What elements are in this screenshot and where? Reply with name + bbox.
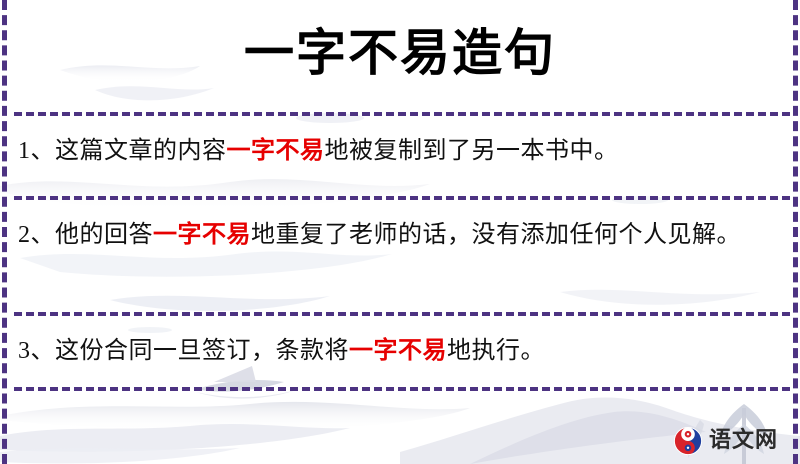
sentence-item-3: 3、这份合同一旦签订，条款将一字不易地执行。 — [18, 328, 774, 373]
sentence-text-before-3: 这份合同一旦签订，条款将 — [55, 338, 349, 364]
sentence-text-before-1: 这篇文章的内容 — [55, 138, 227, 164]
sentence-text-after-1: 地被复制到了另一本书中。 — [325, 138, 619, 164]
idiom-highlight-3: 一字不易 — [349, 335, 447, 364]
sentence-index-3: 3、 — [18, 338, 55, 364]
sentence-text-after-3: 地执行。 — [447, 338, 545, 364]
idiom-highlight-2: 一字不易 — [153, 219, 251, 248]
sentence-item-1: 1、这篇文章的内容一字不易地被复制到了另一本书中。 — [18, 128, 774, 173]
sentence-item-2: 2、他的回答一字不易地重复了老师的话，没有添加任何个人见解。 — [18, 212, 774, 257]
worksheet-page: 一字不易造句 1、这篇文章的内容一字不易地被复制到了另一本书中。 2、他的回答一… — [0, 0, 800, 464]
page-title: 一字不易造句 — [0, 18, 800, 88]
divider-after-sentence-1 — [14, 196, 790, 200]
site-logo-text: 语文网 — [709, 429, 778, 453]
sentence-text-before-2: 他的回答 — [55, 222, 153, 248]
sentence-index-2: 2、 — [18, 222, 55, 248]
idiom-highlight-1: 一字不易 — [227, 135, 325, 164]
taiji-circle-icon — [673, 426, 703, 456]
sentence-text-after-2: 地重复了老师的话，没有添加任何个人见解。 — [251, 222, 741, 248]
divider-after-sentence-3 — [14, 387, 790, 391]
sentence-index-1: 1、 — [18, 138, 55, 164]
divider-after-sentence-2 — [14, 312, 790, 316]
divider-after-title — [14, 112, 790, 116]
site-logo[interactable]: 语文网 — [673, 426, 778, 456]
